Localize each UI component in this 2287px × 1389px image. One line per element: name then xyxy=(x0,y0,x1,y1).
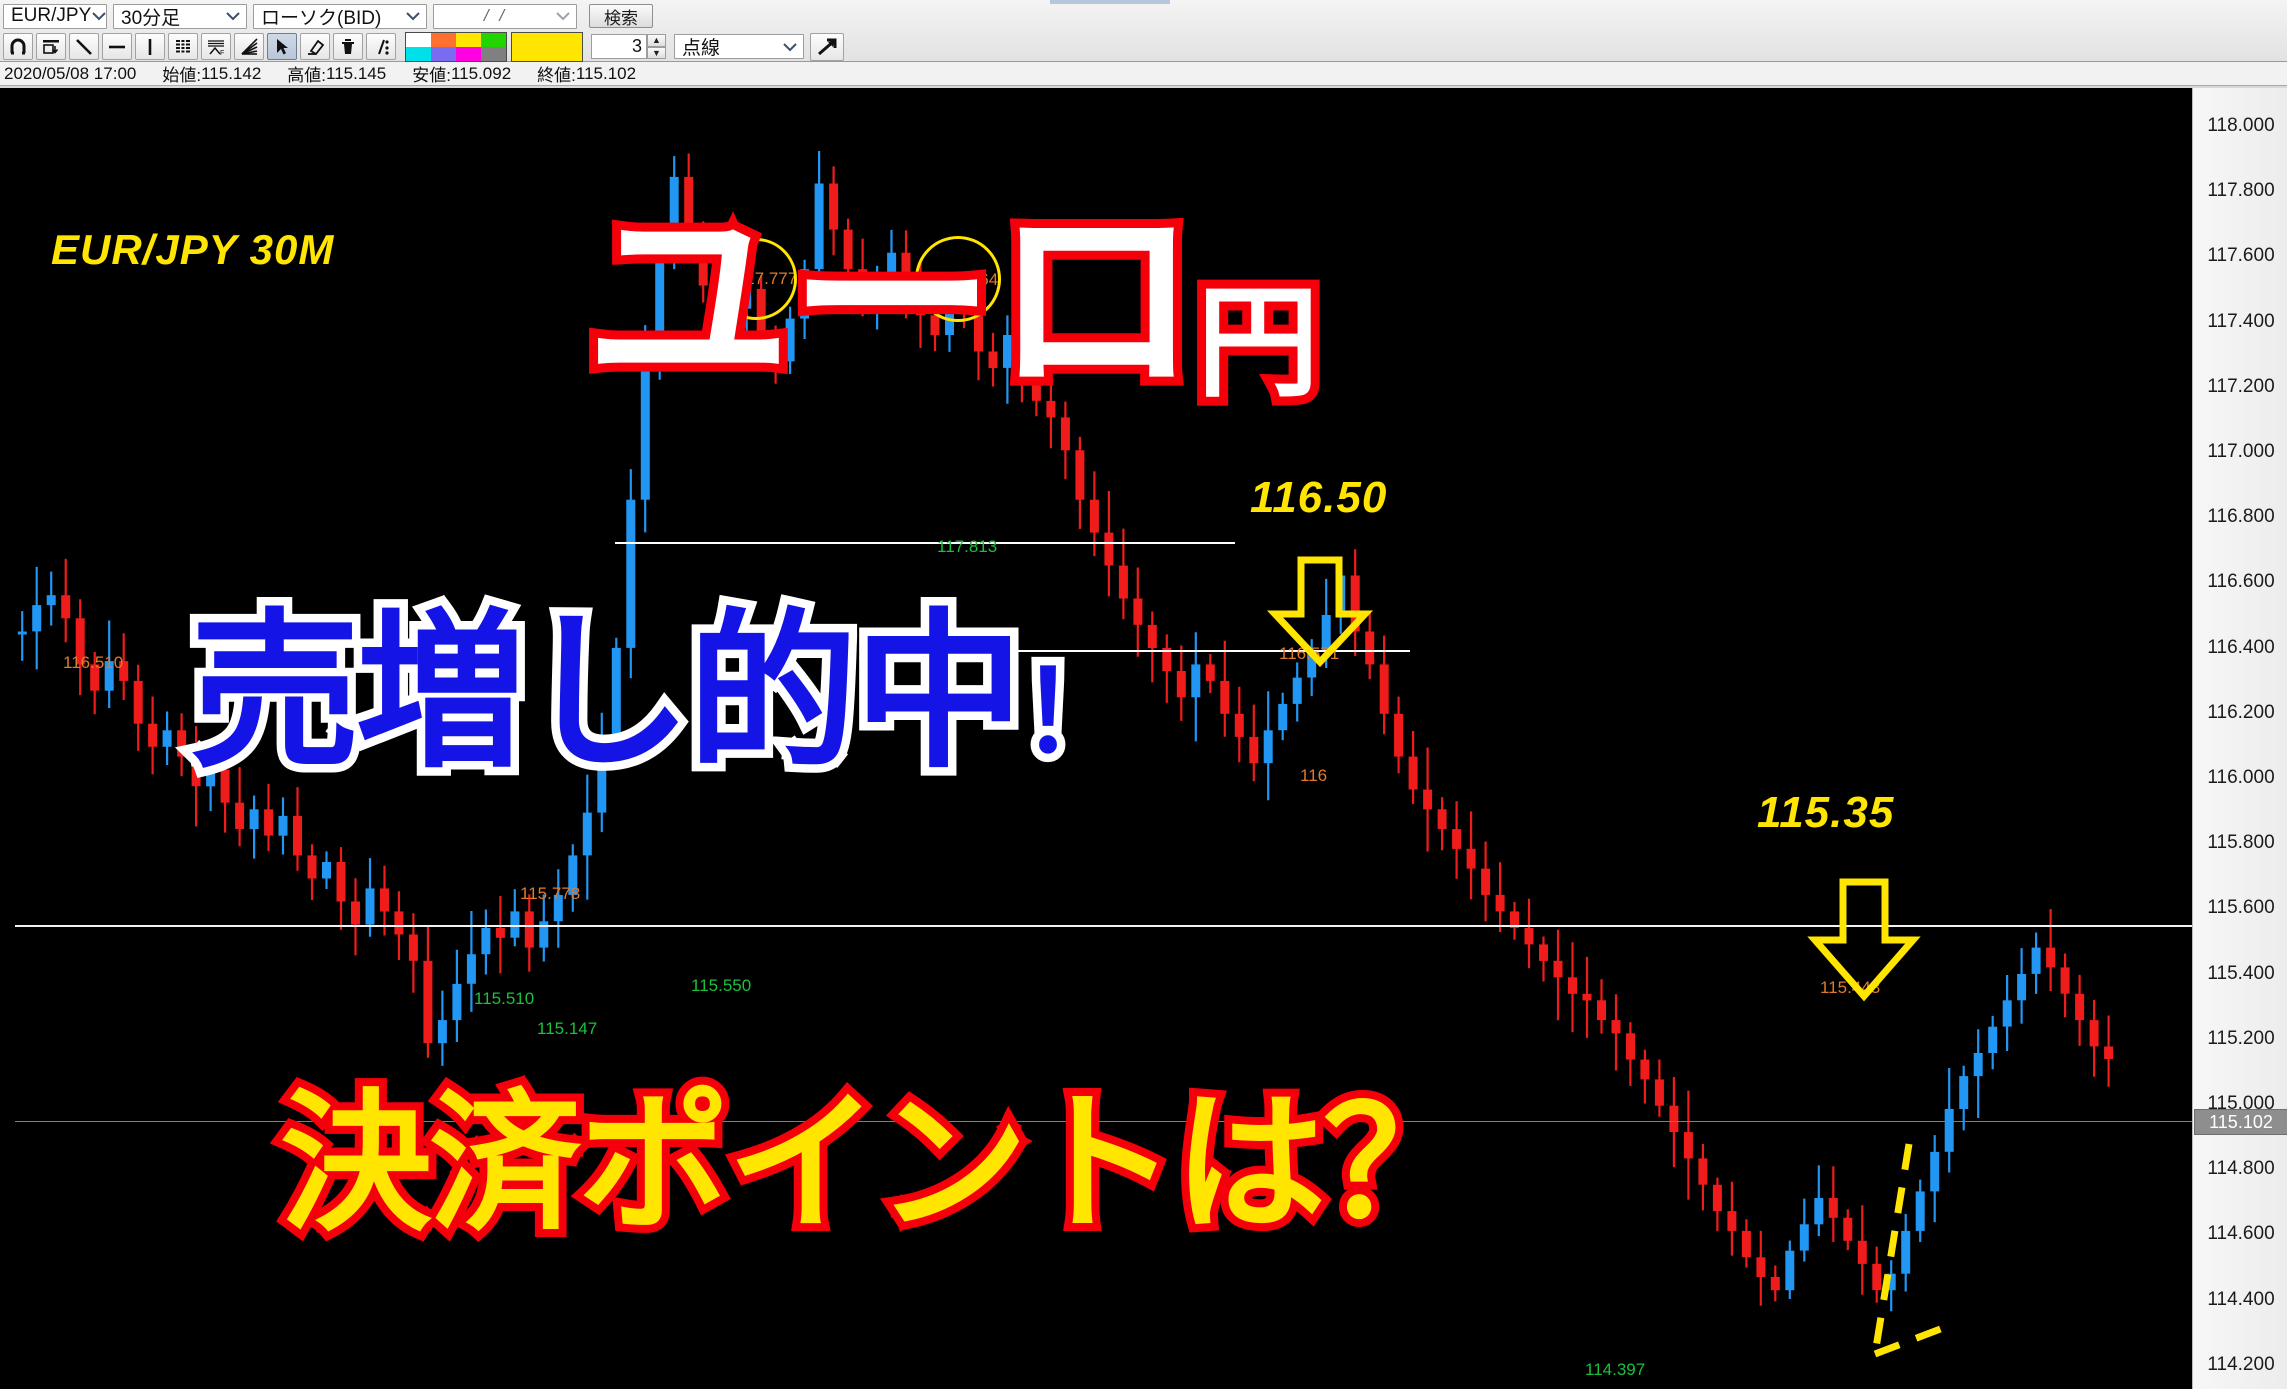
arrow-down-115-35 xyxy=(1805,878,1923,1002)
info-high-label: 高値: xyxy=(287,61,326,86)
date-value: / / xyxy=(441,6,550,26)
period-combo[interactable]: 30分足 xyxy=(113,4,247,29)
price-axis-tick: 117.200 xyxy=(2193,376,2287,398)
search-button-label: 検索 xyxy=(604,4,638,29)
table-insert-icon[interactable] xyxy=(36,33,66,60)
symbol-combo[interactable]: EUR/JPY xyxy=(3,4,107,29)
line-width-stepper[interactable]: ▲ ▼ xyxy=(647,34,666,59)
edit-points-icon[interactable] xyxy=(366,33,396,60)
toolbar-row-primary: EUR/JPY 30分足 ローソク(BID) / / 検索 xyxy=(0,1,653,31)
overlay-text-settle-question: 決済ポイントは？ xyxy=(280,1088,1472,1240)
chart-plot[interactable]: 116.510117.777117.764117.813116.57111611… xyxy=(15,88,2192,1389)
current-price-badge: 115.102 xyxy=(2194,1109,2287,1135)
price-axis-tick: 117.000 xyxy=(2193,441,2287,463)
price-axis-tick: 116.800 xyxy=(2193,506,2287,528)
line-style-value: 点線 xyxy=(682,34,777,59)
line-width-value: 3 xyxy=(632,36,642,57)
dashed-forecast-line xyxy=(1865,1128,2125,1388)
price-axis-tick: 115.400 xyxy=(2193,963,2287,985)
eraser-icon[interactable] xyxy=(300,33,330,60)
price-label-115-550: 115.550 xyxy=(691,976,751,996)
stepper-up-icon[interactable]: ▲ xyxy=(647,34,666,47)
date-combo[interactable]: / / xyxy=(433,4,577,29)
toolbar-row-drawing-tools: F 3 ▲ xyxy=(0,32,847,61)
price-axis-tick: 116.600 xyxy=(2193,571,2287,593)
symbol-value: EUR/JPY xyxy=(11,5,91,27)
chevron-down-icon[interactable] xyxy=(220,5,246,28)
overlay-settle-main: 決済ポイントは？ xyxy=(280,1079,1472,1249)
palette-swatch-orange[interactable] xyxy=(431,33,456,47)
price-label-116: 116 xyxy=(1300,766,1327,786)
price-label-116-510: 116.510 xyxy=(63,653,123,673)
price-label-115-147: 115.147 xyxy=(537,1019,597,1039)
info-high-value: 115.145 xyxy=(326,64,386,84)
palette-swatch-magenta[interactable] xyxy=(456,47,481,61)
search-button[interactable]: 検索 xyxy=(589,4,653,28)
price-label-115-778: 115.778 xyxy=(520,884,580,904)
target-label-115-35: 115.35 xyxy=(1757,788,1894,838)
reference-line-117-813[interactable] xyxy=(615,542,1235,544)
price-axis-tick: 116.000 xyxy=(2193,767,2287,789)
color-palette[interactable] xyxy=(405,32,507,62)
grid-icon[interactable] xyxy=(168,33,198,60)
price-axis-tick: 116.400 xyxy=(2193,637,2287,659)
price-axis-tick: 118.000 xyxy=(2193,115,2287,137)
stepper-down-icon[interactable]: ▼ xyxy=(647,47,666,60)
fibonacci-icon[interactable]: F xyxy=(201,33,231,60)
palette-swatch-yellow[interactable] xyxy=(456,33,481,47)
ohlc-info-bar: 2020/05/08 17:00 始値: 115.142 高値: 115.145… xyxy=(0,62,2287,86)
price-axis-tick: 117.800 xyxy=(2193,180,2287,202)
cursor-select-icon[interactable] xyxy=(267,33,297,60)
info-close-value: 115.102 xyxy=(576,64,636,84)
period-value: 30分足 xyxy=(121,4,220,29)
info-open-label: 始値: xyxy=(162,61,201,86)
overlay-sell-bang: ！ xyxy=(1020,650,1128,775)
chevron-down-icon[interactable] xyxy=(91,5,107,28)
chevron-down-icon[interactable] xyxy=(777,35,803,58)
magnet-icon[interactable] xyxy=(3,33,33,60)
palette-swatch-purple[interactable] xyxy=(431,47,456,61)
trend-line-icon[interactable] xyxy=(69,33,99,60)
overlay-text-euro-yen: ユーロ円 xyxy=(585,198,1317,404)
price-axis-tick: 114.200 xyxy=(2193,1354,2287,1376)
chart-title: EUR/JPY 30M xyxy=(51,226,334,274)
palette-swatch-gray[interactable] xyxy=(481,47,506,61)
price-axis-tick: 114.600 xyxy=(2193,1223,2287,1245)
horizontal-line-icon[interactable] xyxy=(102,33,132,60)
info-close-label: 終値: xyxy=(537,61,576,86)
overlay-sell-main: 売増し的中 xyxy=(190,598,1020,788)
price-axis-tick: 114.800 xyxy=(2193,1158,2287,1180)
arrow-down-116-50 xyxy=(1265,556,1375,668)
info-datetime: 2020/05/08 17:00 xyxy=(4,64,136,84)
chevron-down-icon[interactable] xyxy=(400,5,426,28)
chevron-down-icon[interactable] xyxy=(550,5,576,28)
overlay-euro-yen: 円 xyxy=(1197,275,1317,411)
price-axis-tick: 115.600 xyxy=(2193,897,2287,919)
target-label-116-50: 116.50 xyxy=(1250,473,1387,523)
vertical-line-icon[interactable] xyxy=(135,33,165,60)
fan-line-icon[interactable] xyxy=(234,33,264,60)
chart-type-combo[interactable]: ローソク(BID) xyxy=(253,4,427,29)
line-width-input[interactable]: 3 xyxy=(591,34,647,59)
price-axis-tick: 115.200 xyxy=(2193,1028,2287,1050)
selected-color-swatch[interactable] xyxy=(511,32,583,62)
price-label-115-510: 115.510 xyxy=(474,989,534,1009)
info-low-value: 115.092 xyxy=(451,64,511,84)
chart-area[interactable]: 116.510117.777117.764117.813116.57111611… xyxy=(0,88,2287,1389)
palette-swatch-cyan[interactable] xyxy=(406,47,431,61)
price-axis-tick: 117.400 xyxy=(2193,311,2287,333)
overlay-text-sell-hit: 売増し的中！ xyxy=(190,608,1128,778)
toolbar-scroll-indicator xyxy=(1050,0,1170,4)
line-style-combo[interactable]: 点線 xyxy=(674,34,804,59)
chart-type-value: ローソク(BID) xyxy=(261,4,400,29)
price-label-117-813: 117.813 xyxy=(937,537,997,557)
info-low-label: 安値: xyxy=(412,61,451,86)
svg-text:F: F xyxy=(220,50,224,57)
toolbar: EUR/JPY 30分足 ローソク(BID) / / 検索 xyxy=(0,0,2287,62)
price-axis-tick: 117.600 xyxy=(2193,245,2287,267)
info-open-value: 115.142 xyxy=(201,64,261,84)
trash-icon[interactable] xyxy=(333,33,363,60)
palette-swatch-green[interactable] xyxy=(481,33,506,47)
price-label-114-397: 114.397 xyxy=(1585,1360,1645,1380)
palette-swatch-white[interactable] xyxy=(406,33,431,47)
price-axis-tick: 116.200 xyxy=(2193,702,2287,724)
arrow-tool-icon[interactable] xyxy=(810,33,844,61)
price-axis-tick: 115.800 xyxy=(2193,832,2287,854)
price-axis[interactable]: 118.000117.800117.600117.400117.200117.0… xyxy=(2192,88,2287,1389)
overlay-euro-main: ユーロ xyxy=(585,186,1197,416)
price-axis-tick: 114.400 xyxy=(2193,1289,2287,1311)
